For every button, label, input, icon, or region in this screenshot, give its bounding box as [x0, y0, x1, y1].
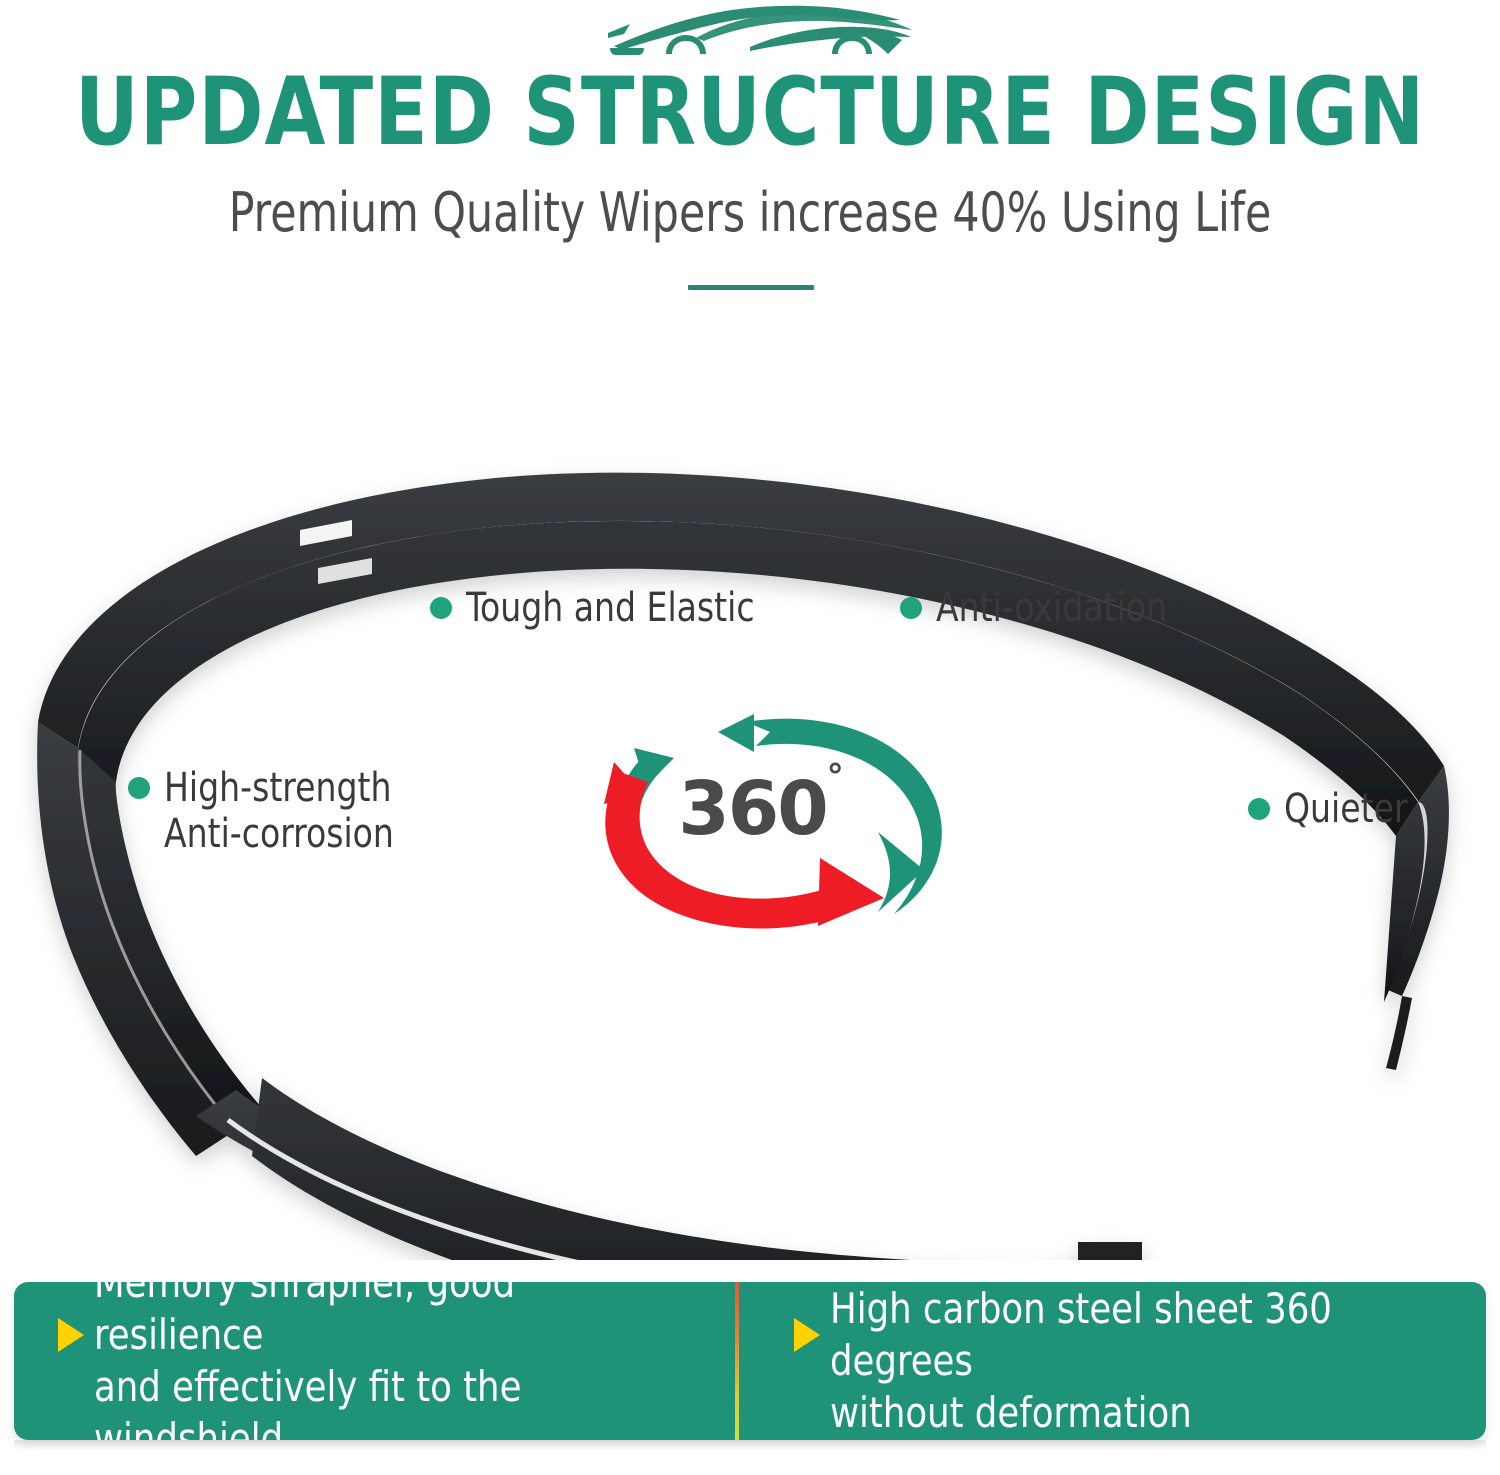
triangle-right-icon: [794, 1318, 820, 1352]
bullet-dot-icon: [128, 777, 150, 799]
feature-callout-high-strength-anti-corrosion: High-strength Anti-corrosion: [128, 765, 414, 857]
car-silhouette-icon: [600, 2, 920, 64]
bottom-feature-banner: Memory shrapnel, good resilience and eff…: [14, 1282, 1486, 1440]
bullet-dot-icon: [1248, 798, 1270, 820]
feature-label: Anti-oxidation: [936, 585, 1167, 631]
page-title: UPDATED STRUCTURE DESIGN: [53, 64, 1448, 162]
banner-panel-text: Memory shrapnel, good resilience and eff…: [94, 1282, 684, 1440]
triangle-right-icon: [58, 1318, 84, 1352]
product-infographic: UPDATED STRUCTURE DESIGN Premium Quality…: [0, 0, 1500, 1475]
badge-360-degrees: 360 °: [578, 700, 968, 930]
feature-label: Quieter: [1284, 786, 1408, 832]
feature-callout-quieter: Quieter: [1248, 786, 1418, 832]
page-subtitle: Premium Quality Wipers increase 40% Usin…: [90, 182, 1410, 244]
feature-callout-tough-and-elastic: Tough and Elastic: [430, 585, 780, 631]
feature-label: Tough and Elastic: [466, 585, 755, 631]
feature-label: High-strength Anti-corrosion: [164, 765, 394, 857]
feature-callout-anti-oxidation: Anti-oxidation: [900, 585, 1187, 631]
banner-panel-high-carbon-steel: High carbon steel sheet 360 degrees with…: [750, 1282, 1486, 1440]
accent-divider: [688, 285, 814, 290]
bullet-dot-icon: [900, 597, 922, 619]
banner-shadow: [14, 1440, 1486, 1450]
banner-panel-memory-shrapnel: Memory shrapnel, good resilience and eff…: [14, 1282, 750, 1440]
banner-divider: [735, 1282, 739, 1440]
banner-panel-text: High carbon steel sheet 360 degrees with…: [830, 1283, 1420, 1439]
bullet-dot-icon: [430, 597, 452, 619]
